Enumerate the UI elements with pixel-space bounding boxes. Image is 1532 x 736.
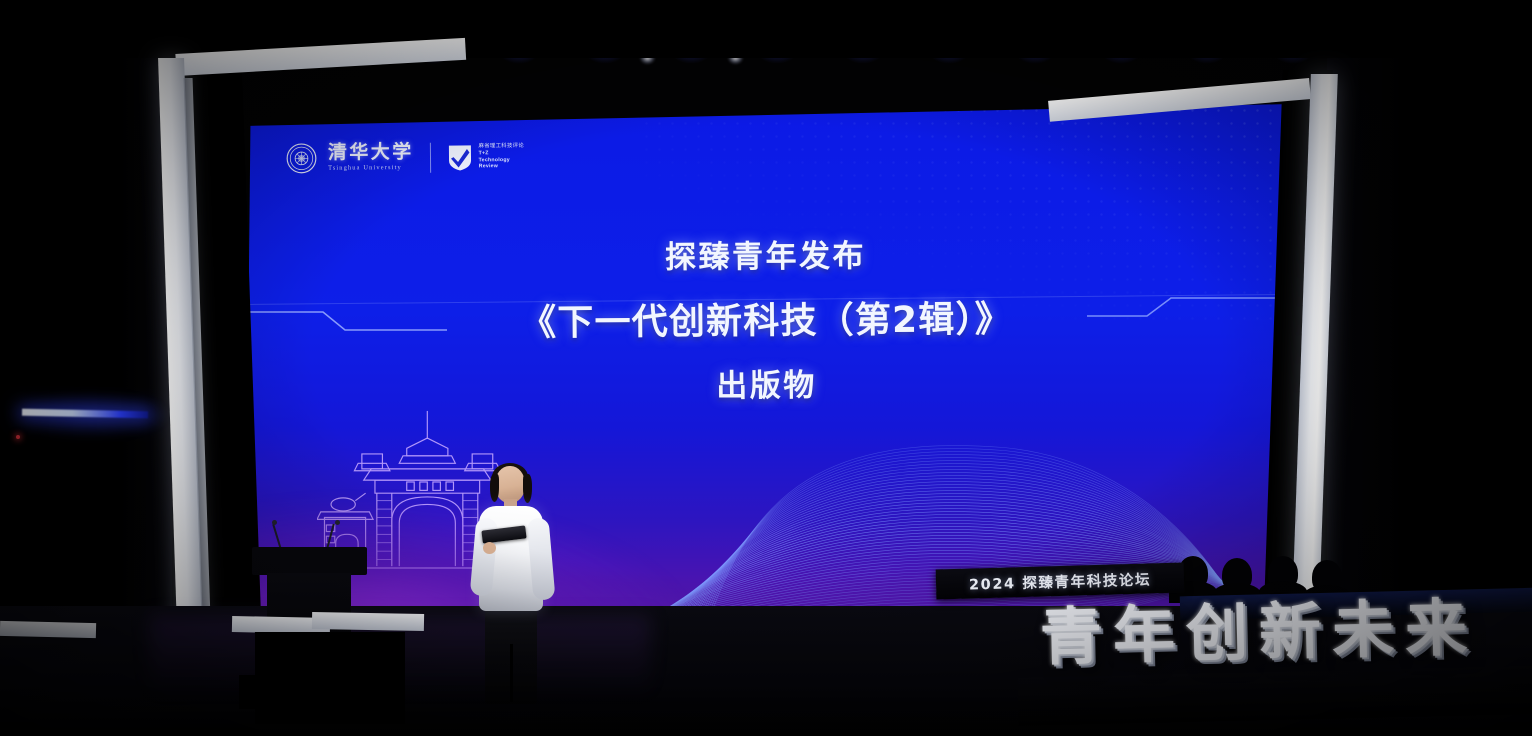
forum-banner-text: 2024 探臻青年科技论坛 (969, 568, 1152, 594)
led-screen-surface: 清华大学 Tsinghua University 麻省理工科技评论 T+Z (241, 104, 1291, 624)
presenter-head (495, 466, 525, 503)
title-line-2: 《下一代创新科技（第2辑）》 (241, 288, 1291, 348)
tsinghua-seal-icon (286, 143, 317, 174)
mit-tech-review-text: 麻省理工科技评论 T+Z Technology Review (479, 143, 525, 170)
microphone-head-right (335, 520, 340, 525)
big-letter: 创 (1185, 602, 1248, 665)
audience-head (1222, 558, 1252, 592)
led-screen: 清华大学 Tsinghua University 麻省理工科技评论 T+Z (241, 104, 1291, 624)
big-letters-signage: 青年创新未来 (1039, 597, 1467, 669)
indicator-led (16, 435, 20, 439)
microphone-head-left (272, 520, 277, 525)
presenter-hair-left (490, 474, 499, 502)
stage-riser-left (0, 621, 96, 638)
presenter (463, 466, 558, 704)
tsinghua-wordmark: 清华大学 Tsinghua University (328, 144, 414, 173)
checkmark-shield-icon (447, 143, 473, 171)
audience-head (1268, 556, 1298, 590)
big-letter: 未 (1331, 599, 1394, 662)
big-letter: 年 (1112, 604, 1175, 667)
stage-dark-block (255, 632, 405, 724)
presenter-leg-gap (510, 644, 513, 702)
presenter-hand (483, 542, 496, 554)
stage-riser-right (312, 612, 424, 631)
big-letter: 青 (1039, 605, 1102, 668)
title-line-1: 探臻青年发布 (241, 227, 1291, 280)
lectern-top (252, 547, 367, 575)
mit-tech-review-logo: 麻省理工科技评论 T+Z Technology Review (447, 143, 525, 172)
big-letter: 来 (1404, 597, 1467, 660)
big-letter: 新 (1258, 600, 1321, 663)
logo-divider (430, 143, 431, 173)
slide-title: 探臻青年发布 《下一代创新科技（第2辑）》 出版物 (241, 227, 1291, 409)
stage-scene: 清华大学 Tsinghua University 麻省理工科技评论 T+Z (0, 0, 1532, 736)
mit-line3: Review (479, 164, 525, 171)
presenter-hair-right (523, 474, 532, 503)
logo-lockup: 清华大学 Tsinghua University 麻省理工科技评论 T+Z (286, 141, 524, 174)
tsinghua-name-cn: 清华大学 (328, 144, 414, 164)
audience-head (1312, 560, 1342, 594)
tsinghua-name-en: Tsinghua University (328, 166, 414, 173)
top-dark-area (0, 0, 1532, 58)
